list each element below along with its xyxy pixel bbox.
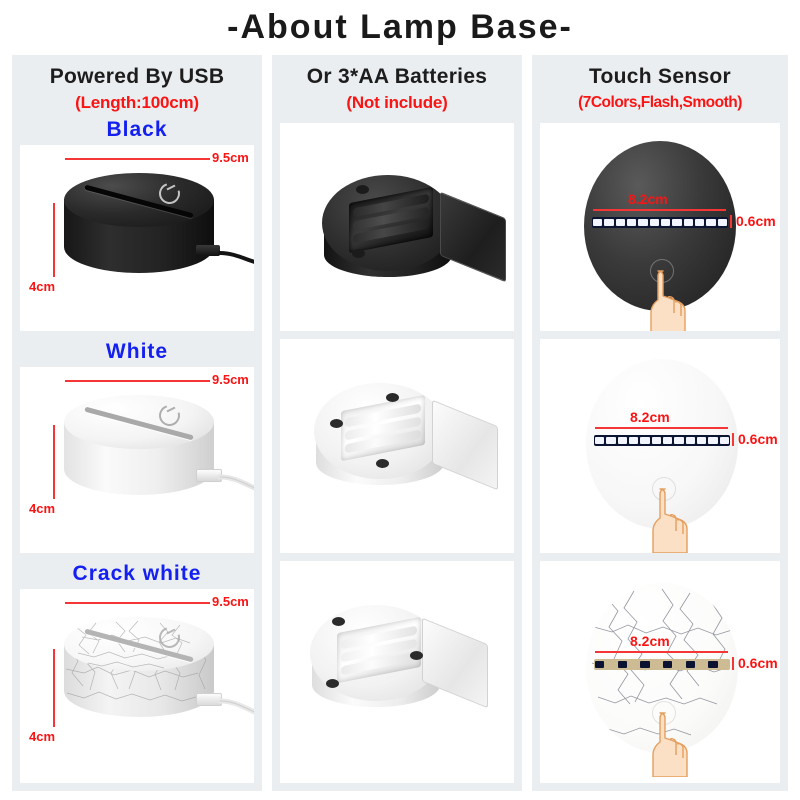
led: [706, 219, 715, 226]
row-label-crack-white: Crack white: [12, 561, 262, 587]
screw-dot: [356, 185, 369, 194]
led: [686, 661, 695, 668]
led: [663, 437, 672, 444]
row-label-white: White: [12, 339, 262, 365]
led: [672, 219, 681, 226]
column-header-touch: Touch Sensor (7Colors,Flash,Smooth): [532, 63, 788, 115]
led: [593, 219, 602, 226]
screw-dot: [386, 393, 399, 402]
led: [595, 437, 604, 444]
dimension-line-width: [65, 602, 210, 604]
image-cell-battery-white: [280, 339, 514, 553]
led: [652, 437, 661, 444]
battery-compartment-white-alt: [310, 605, 492, 709]
led: [629, 437, 638, 444]
led: [640, 661, 649, 668]
led: [616, 219, 625, 226]
dimension-line-thickness: [732, 657, 734, 670]
column-powered-by-usb: Powered By USB (Length:100cm) Black 9.5c…: [12, 55, 262, 791]
battery-compartment-black: [322, 175, 504, 279]
led: [663, 661, 672, 668]
screw-dot: [330, 419, 343, 428]
infographic-canvas: -About Lamp Base- Powered By USB (Length…: [0, 0, 800, 800]
led: [627, 219, 636, 226]
header-subtitle-batteries: (Not include): [272, 91, 522, 115]
led: [697, 661, 706, 668]
dimension-line-height: [53, 649, 55, 727]
led: [606, 437, 615, 444]
led: [618, 661, 627, 668]
led: [695, 219, 704, 226]
dimension-label-width: 9.5cm: [212, 150, 249, 165]
led: [650, 219, 659, 226]
led: [686, 437, 695, 444]
led: [720, 661, 729, 668]
usb-cable-icon: [196, 469, 254, 509]
header-title-batteries: Or 3*AA Batteries: [272, 63, 522, 91]
header-subtitle-usb: (Length:100cm): [12, 91, 262, 115]
battery-icon: [341, 624, 417, 677]
battery-lid: [432, 400, 498, 491]
lamp-base-white: [64, 395, 214, 495]
image-cell-battery-black: [280, 123, 514, 331]
led: [606, 661, 615, 668]
dimension-label-thickness: 0.6cm: [736, 213, 776, 229]
dimension-label-width: 8.2cm: [630, 409, 670, 425]
image-cell-usb-crack-white: 9.5cm 4cm: [20, 589, 254, 783]
led: [684, 219, 693, 226]
battery-compartment-white: [314, 383, 496, 487]
screw-dot: [376, 459, 389, 468]
column-batteries: Or 3*AA Batteries (Not include): [272, 55, 522, 791]
row-label-black: Black: [12, 117, 262, 143]
dimension-line-width: [595, 427, 728, 429]
image-cell-battery-white-2: [280, 561, 514, 783]
led: [674, 661, 683, 668]
image-cell-usb-white: 9.5cm 4cm: [20, 367, 254, 553]
dimension-line-height: [53, 425, 55, 499]
header-title-touch: Touch Sensor: [532, 63, 788, 91]
usb-cable-icon: [196, 245, 254, 285]
image-cell-usb-black: 9.5cm 4cm: [20, 145, 254, 331]
battery-icon: [353, 194, 429, 247]
column-header-usb: Powered By USB (Length:100cm): [12, 63, 262, 115]
header-title-usb: Powered By USB: [12, 63, 262, 91]
column-header-batteries: Or 3*AA Batteries (Not include): [272, 63, 522, 115]
dimension-label-width: 8.2cm: [630, 633, 670, 649]
dimension-line-width: [595, 651, 728, 653]
led: [708, 661, 717, 668]
led: [697, 437, 706, 444]
image-cell-touch-black: 8.2cm 0.6cm: [540, 123, 780, 331]
led: [720, 437, 729, 444]
led: [629, 661, 638, 668]
image-cell-touch-white: 8.2cm 0.6cm: [540, 339, 780, 553]
battery-icon: [345, 402, 421, 455]
cable-path: [216, 247, 254, 287]
page-title: -About Lamp Base-: [0, 4, 800, 50]
led-strip-icon: [594, 435, 730, 446]
led: [674, 437, 683, 444]
dimension-label-height: 4cm: [29, 279, 55, 294]
dimension-line-width: [65, 158, 210, 160]
dimension-label-width: 9.5cm: [212, 372, 249, 387]
screw-dot: [332, 617, 345, 626]
led-strip-icon: [594, 659, 730, 670]
usb-cable-icon: [196, 693, 254, 733]
battery-lid: [440, 192, 506, 283]
dimension-label-height: 4cm: [29, 729, 55, 744]
header-subtitle-touch: (7Colors,Flash,Smooth): [532, 91, 788, 115]
pointing-hand-icon: [646, 483, 716, 553]
led: [661, 219, 670, 226]
dimension-line-width: [593, 209, 726, 211]
dimension-line-width: [65, 380, 210, 382]
screw-dot: [326, 679, 339, 688]
cable-path: [216, 695, 254, 735]
led: [718, 219, 727, 226]
lamp-base-black: [64, 173, 214, 273]
led: [708, 437, 717, 444]
dimension-label-width: 8.2cm: [628, 191, 668, 207]
cable-path: [216, 471, 254, 511]
screw-dot: [352, 249, 365, 258]
led: [640, 437, 649, 444]
dimension-line-thickness: [730, 215, 732, 228]
led: [604, 219, 613, 226]
image-cell-touch-crack-white: 8.2cm 0.6cm: [540, 561, 780, 783]
pointing-hand-icon: [646, 707, 716, 777]
dimension-line-height: [53, 203, 55, 277]
screw-dot: [410, 651, 423, 660]
dimension-label-thickness: 0.6cm: [738, 655, 778, 671]
led: [638, 219, 647, 226]
led: [618, 437, 627, 444]
dimension-label-height: 4cm: [29, 501, 55, 516]
led: [652, 661, 661, 668]
dimension-label-thickness: 0.6cm: [738, 431, 778, 447]
led: [595, 661, 604, 668]
led-strip-icon: [592, 217, 728, 228]
dimension-line-thickness: [732, 433, 734, 446]
dimension-label-width: 9.5cm: [212, 594, 249, 609]
column-touch-sensor: Touch Sensor (7Colors,Flash,Smooth) 8.2c…: [532, 55, 788, 791]
lamp-base-crack-white: [64, 617, 214, 717]
pointing-hand-icon: [644, 265, 714, 331]
